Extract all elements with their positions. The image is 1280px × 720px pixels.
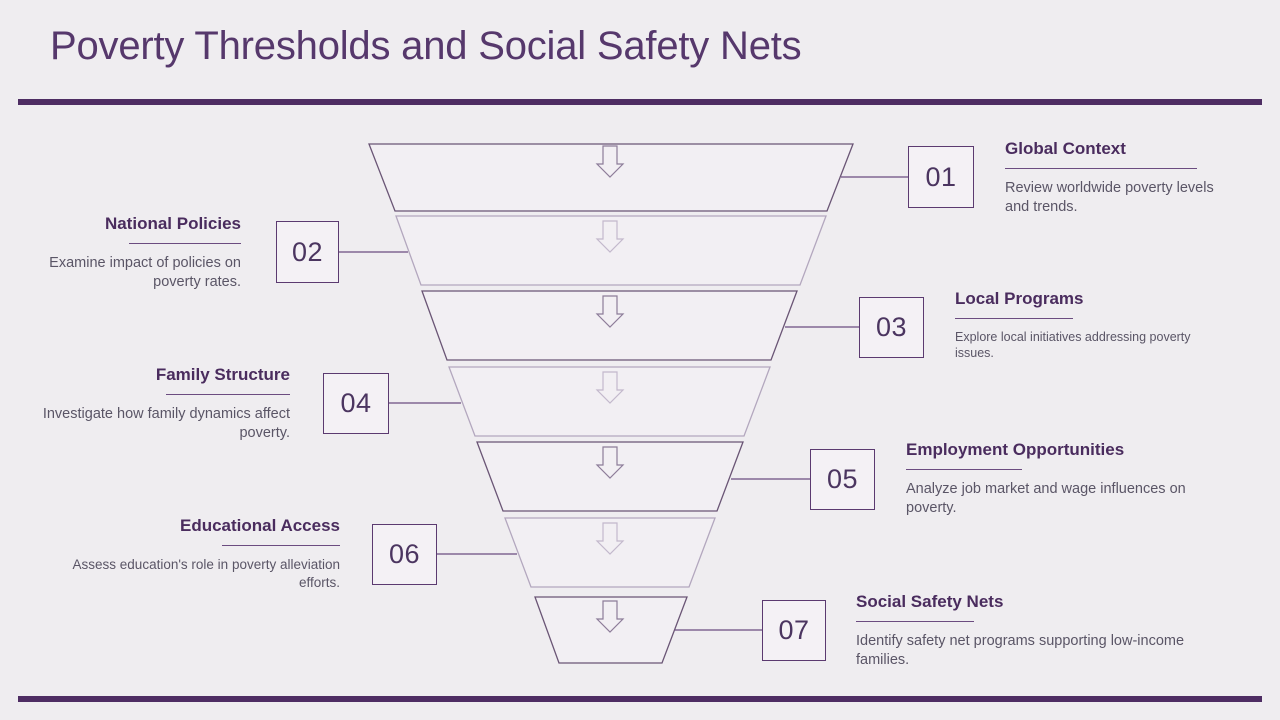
step-caption-03[interactable]: Local Programs Explore local initiatives… — [955, 289, 1230, 362]
step-description-06: Assess education's role in poverty allev… — [70, 556, 340, 592]
step-number-box-04[interactable]: 04 — [323, 373, 389, 434]
step-number-box-07[interactable]: 07 — [762, 600, 826, 661]
step-title-05: Employment Opportunities — [906, 440, 1236, 460]
step-number-box-01[interactable]: 01 — [908, 146, 974, 208]
step-description-03: Explore local initiatives addressing pov… — [955, 329, 1230, 363]
step-title-04: Family Structure — [20, 365, 290, 385]
caption-rule — [222, 545, 340, 546]
step-description-02: Examine impact of policies on poverty ra… — [15, 254, 241, 293]
caption-rule — [906, 469, 1022, 470]
step-caption-04[interactable]: Family Structure Investigate how family … — [20, 365, 290, 444]
caption-rule — [955, 318, 1073, 319]
step-caption-05[interactable]: Employment Opportunities Analyze job mar… — [906, 440, 1236, 519]
step-description-07: Identify safety net programs supporting … — [856, 632, 1206, 671]
step-number-box-03[interactable]: 03 — [859, 297, 924, 358]
step-description-01: Review worldwide poverty levels and tren… — [1005, 179, 1240, 218]
step-caption-01[interactable]: Global Context Review worldwide poverty … — [1005, 139, 1240, 218]
step-number-box-02[interactable]: 02 — [276, 221, 339, 283]
step-description-04: Investigate how family dynamics affect p… — [20, 405, 290, 444]
step-number-box-06[interactable]: 06 — [372, 524, 437, 585]
step-number-box-05[interactable]: 05 — [810, 449, 875, 510]
step-title-07: Social Safety Nets — [856, 592, 1206, 612]
step-description-05: Analyze job market and wage influences o… — [906, 480, 1236, 519]
step-caption-07[interactable]: Social Safety Nets Identify safety net p… — [856, 592, 1206, 671]
caption-rule — [1005, 168, 1197, 169]
caption-rule — [129, 243, 241, 244]
step-title-02: National Policies — [15, 214, 241, 234]
step-caption-02[interactable]: National Policies Examine impact of poli… — [15, 214, 241, 293]
step-caption-06[interactable]: Educational Access Assess education's ro… — [70, 516, 340, 592]
slide-canvas: Poverty Thresholds and Social Safety Net… — [0, 0, 1280, 720]
caption-rule — [856, 621, 974, 622]
step-title-03: Local Programs — [955, 289, 1230, 309]
step-title-06: Educational Access — [70, 516, 340, 536]
caption-rule — [166, 394, 290, 395]
step-title-01: Global Context — [1005, 139, 1240, 159]
